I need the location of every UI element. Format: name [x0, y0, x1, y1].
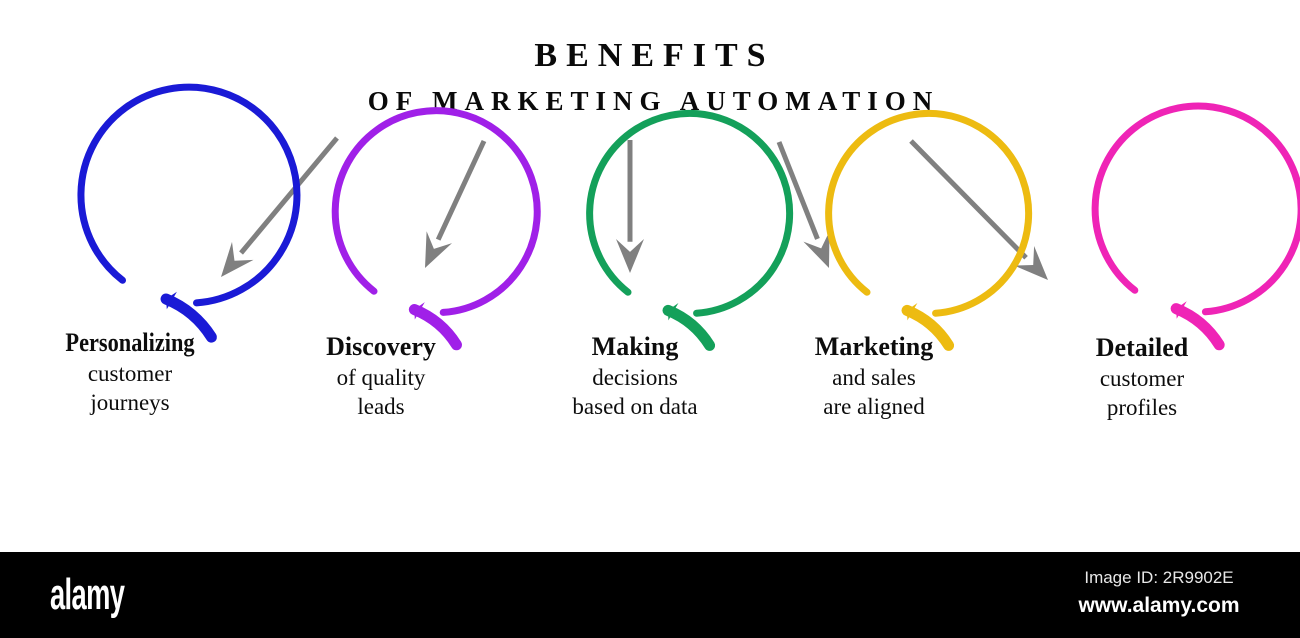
alamy-logo: alamy: [50, 570, 124, 620]
arrow-to-discovery: [425, 141, 484, 268]
circle-detailed-customer-profiles: [1095, 106, 1300, 345]
diagram-artwork: [0, 0, 1300, 552]
circle-ring: [335, 111, 537, 313]
arrow-shaft: [438, 141, 484, 240]
circle-ring: [590, 113, 790, 313]
circle-personalizing-customer-journeys: [81, 87, 297, 337]
circles-layer: [81, 87, 1300, 345]
alamy-url-text[interactable]: www.alamy.com: [1044, 592, 1274, 620]
arrow-to-making: [616, 140, 644, 273]
circle-ring: [81, 87, 297, 303]
circle-ring: [1095, 106, 1300, 312]
circle-making-decisions-based-on-data: [590, 113, 790, 345]
image-id-text: Image ID: 2R9902E: [1044, 566, 1274, 590]
watermark-footer: alamy Image ID: 2R9902E www.alamy.com: [0, 552, 1300, 638]
circle-discovery-of-quality-leads: [335, 111, 537, 345]
diagram-canvas: BENEFITS OF MARKETING AUTOMATION Persona…: [0, 0, 1300, 638]
circle-ring: [829, 113, 1029, 313]
footer-credits: Image ID: 2R9902E www.alamy.com: [1044, 566, 1274, 620]
arrow-head: [616, 239, 644, 273]
